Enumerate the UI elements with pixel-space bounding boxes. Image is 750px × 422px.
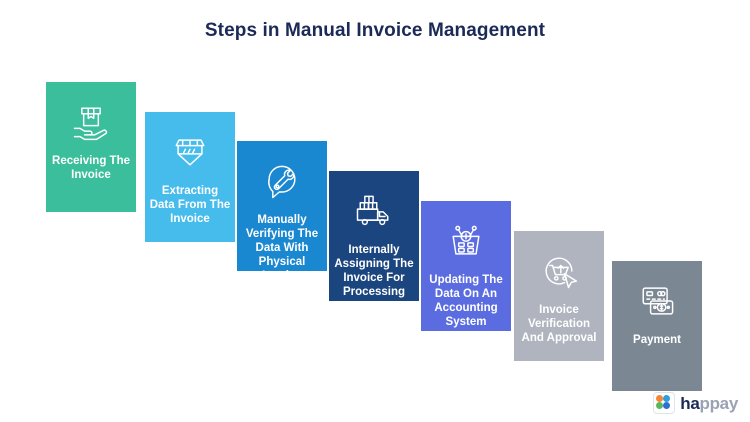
step-label-7: Payment bbox=[615, 333, 699, 347]
step-block-2[interactable]: Extracting Data From The Invoice bbox=[145, 112, 235, 242]
step-label-1: Receiving The Invoice bbox=[49, 154, 133, 182]
card-cash-icon bbox=[635, 279, 679, 323]
brand-logo: happay bbox=[653, 392, 738, 414]
steps-staircase: Receiving The Invoice Extracting Data Fr… bbox=[0, 0, 750, 422]
brand-wordmark-tail: ppay bbox=[700, 394, 738, 413]
logo-dot-top-left-icon bbox=[656, 395, 663, 402]
step-label-3: Manually Verifying The Data With Physica… bbox=[240, 213, 324, 283]
brand-wordmark: happay bbox=[680, 395, 738, 412]
storefront-icon bbox=[168, 130, 212, 174]
cart-cursor-icon bbox=[537, 249, 581, 293]
brand-wordmark-main: ha bbox=[680, 394, 699, 413]
logo-dot-top-right-icon bbox=[663, 395, 670, 402]
step-label-2: Extracting Data From The Invoice bbox=[148, 184, 232, 226]
step-block-4[interactable]: Internally Assigning The Invoice For Pro… bbox=[329, 171, 419, 301]
delivery-truck-icon bbox=[352, 189, 396, 233]
step-label-6: Invoice Verification And Approval bbox=[517, 303, 601, 345]
basket-plus-icon bbox=[444, 219, 488, 263]
step-label-4: Internally Assigning The Invoice For Pro… bbox=[332, 243, 416, 299]
logo-dot-bottom-right-icon bbox=[663, 402, 670, 409]
logo-dot-bottom-left-icon bbox=[656, 402, 663, 409]
step-block-6[interactable]: Invoice Verification And Approval bbox=[514, 231, 604, 361]
step-label-5: Updating The Data On An Accounting Syste… bbox=[424, 273, 508, 329]
step-block-3[interactable]: Manually Verifying The Data With Physica… bbox=[237, 141, 327, 271]
step-block-7[interactable]: Payment bbox=[612, 261, 702, 391]
step-block-1[interactable]: Receiving The Invoice bbox=[46, 82, 136, 212]
wrench-chat-bubble-icon bbox=[260, 159, 304, 203]
hand-holding-package-icon bbox=[69, 100, 113, 144]
happay-logo-mark-icon bbox=[653, 392, 675, 414]
step-block-5[interactable]: Updating The Data On An Accounting Syste… bbox=[421, 201, 511, 331]
infographic-canvas: Steps in Manual Invoice Management Recei… bbox=[0, 0, 750, 422]
